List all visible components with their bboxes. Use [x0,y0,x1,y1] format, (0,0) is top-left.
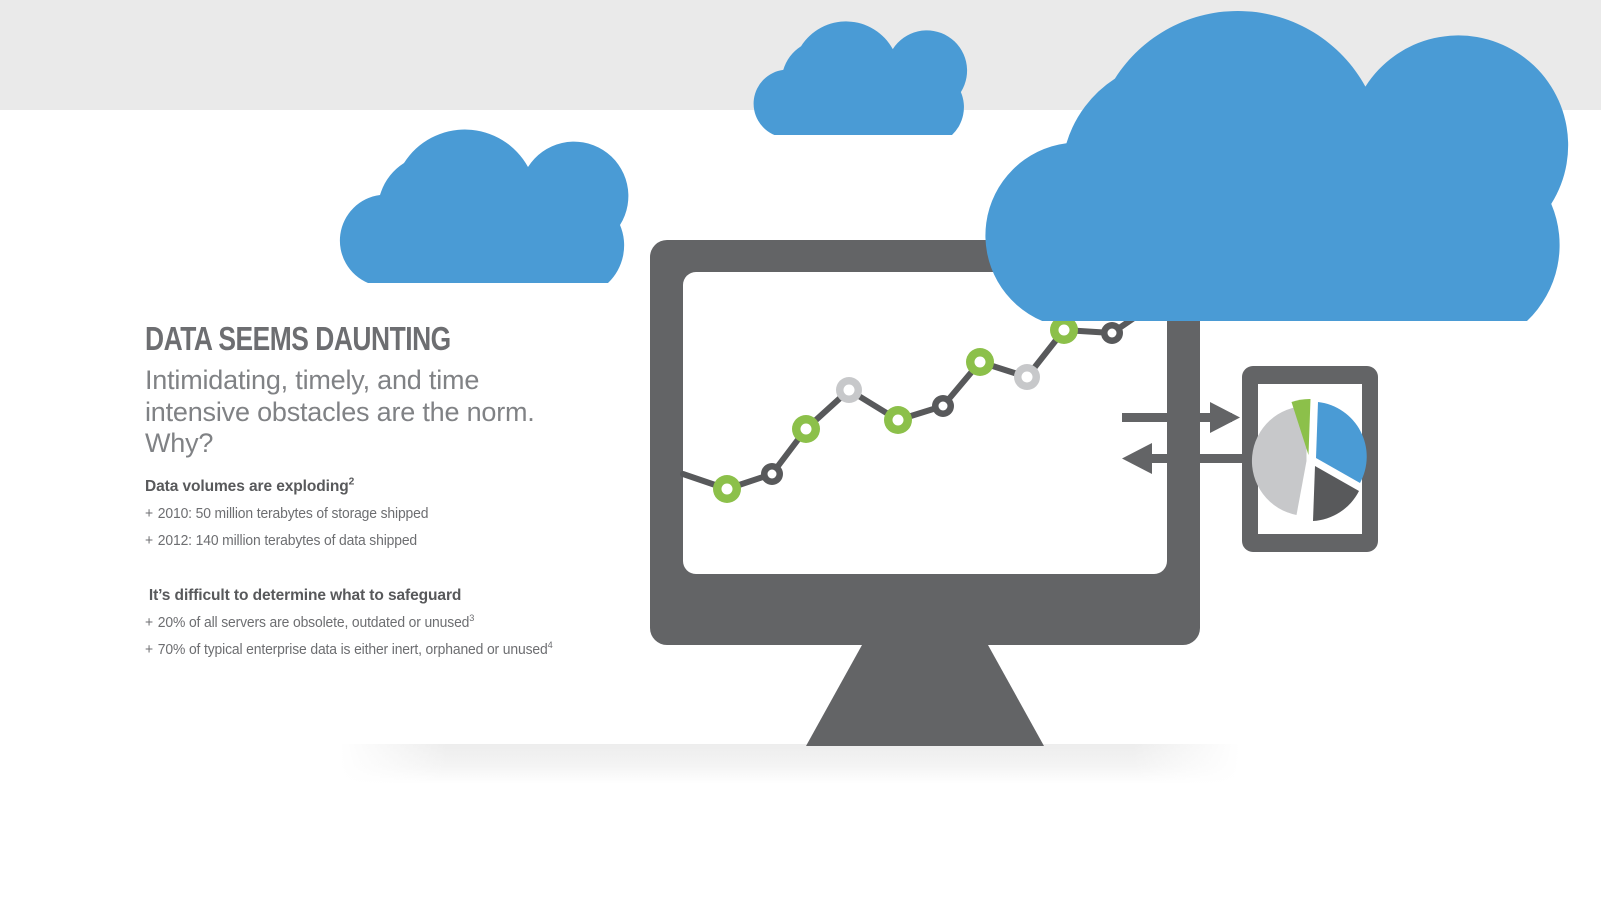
list-item: +2012: 140 million terabytes of data shi… [145,533,644,549]
bullet-marker: + [145,506,153,522]
monitor-base [806,645,1044,746]
list-item: +70% of typical enterprise data is eithe… [145,642,644,658]
subhead-line-1: Intimidating, timely, and time [145,365,665,397]
subhead-line-3: Why? [145,428,665,460]
footnote-marker-2: 2 [349,476,355,488]
list-item: +2010: 50 million terabytes of storage s… [145,506,644,522]
subhead: Intimidating, timely, and time intensive… [145,365,665,461]
tablet-device [1242,366,1378,552]
page-title: DATA SEEMS DAUNTING [145,322,561,356]
bullet-text: 2012: 140 million terabytes of data ship… [158,533,417,549]
bullet-text: 70% of typical enterprise data is either… [158,642,548,658]
bullet-text: 2010: 50 million terabytes of storage sh… [158,506,429,522]
bullet-marker: + [145,533,153,549]
group-title-data-volumes: Data volumes are exploding2 [145,478,649,496]
footnote-marker-4: 4 [548,640,553,651]
group-title-safeguard: It’s difficult to determine what to safe… [145,587,649,605]
bullet-marker: + [145,642,153,658]
infographic-canvas: DATA SEEMS DAUNTING Intimidating, timely… [0,0,1601,901]
group-title-text: Data volumes are exploding [145,478,349,495]
text-content-block: DATA SEEMS DAUNTING Intimidating, timely… [145,322,665,669]
list-item: +20% of all servers are obsolete, outdat… [145,615,644,631]
cloud-small-left [340,130,628,283]
bullet-text: 20% of all servers are obsolete, outdate… [158,615,469,631]
ground-shadow [340,744,1240,784]
subhead-line-2: intensive obstacles are the norm. [145,397,665,429]
footnote-marker-3: 3 [469,613,474,624]
bullet-marker: + [145,615,153,631]
group-title-text: It’s difficult to determine what to safe… [149,587,461,604]
